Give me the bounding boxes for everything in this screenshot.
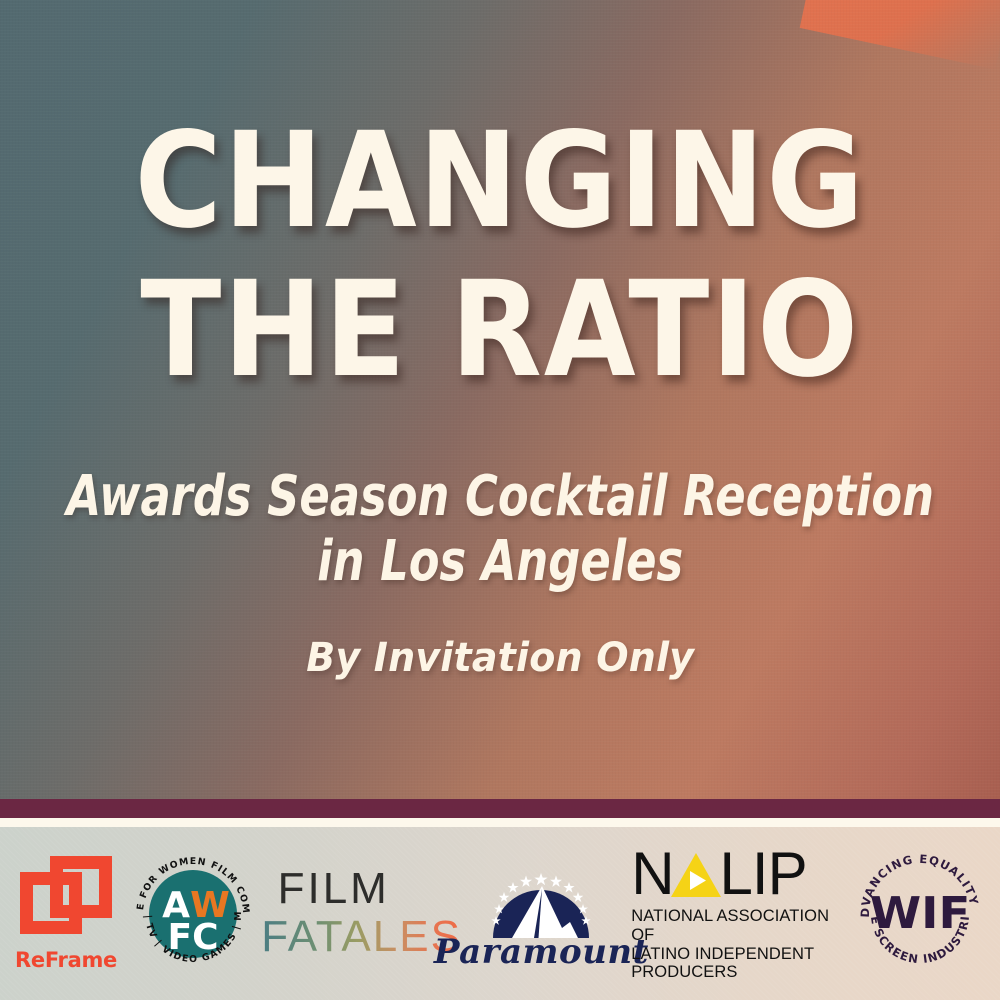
logo-nalip[interactable]: N LIP NATIONAL ASSOCIATION OF LATINO IND… — [631, 845, 841, 983]
logo-paramount[interactable]: Paramount — [466, 856, 616, 972]
event-subtitle: Awards Season Cocktail Reception in Los … — [66, 465, 934, 595]
nalip-subtitle-line-two: LATINO INDEPENDENT PRODUCERS — [631, 945, 841, 983]
paramount-wordmark: Paramount — [434, 932, 649, 972]
reframe-wordmark: ReFrame — [15, 948, 117, 972]
logo-reframe[interactable]: ReFrame — [18, 856, 114, 972]
wif-seal-icon: · ADVANCING EQUALITY IN · THE SCREEN IND… — [856, 850, 984, 978]
title-line-two: THE RATIO — [134, 267, 865, 394]
invitation-note: By Invitation Only — [306, 635, 694, 681]
subtitle-line-two: in Los Angeles — [66, 530, 934, 595]
paramount-mountain-icon — [466, 856, 616, 938]
logo-wif[interactable]: · ADVANCING EQUALITY IN · THE SCREEN IND… — [856, 850, 984, 978]
awfc-seal-icon: ALLIANCE FOR WOMEN FILM COMPOSERS FILM |… — [129, 850, 257, 978]
title-line-one: CHANGING — [134, 118, 865, 245]
nalip-letters-lip: LIP — [720, 847, 807, 901]
nalip-mark-icon: N LIP — [631, 845, 806, 901]
subtitle-line-one: Awards Season Cocktail Reception — [66, 465, 934, 530]
divider-band-maroon — [0, 799, 1000, 818]
event-poster: CHANGING THE RATIO Awards Season Cocktai… — [0, 0, 1000, 1000]
reframe-mark-icon — [20, 856, 112, 940]
nalip-subtitle: NATIONAL ASSOCIATION OF LATINO INDEPENDE… — [631, 907, 841, 983]
film-fatales-line-one: FILM — [278, 867, 390, 911]
nalip-subtitle-line-one: NATIONAL ASSOCIATION OF — [631, 907, 841, 945]
sponsor-logo-strip: ReFrame ALLIANCE FOR WOMEN FILM COMPOSER… — [0, 827, 1000, 1000]
nalip-letter-n: N — [631, 847, 673, 901]
nalip-triangle-icon — [670, 851, 722, 899]
logo-awfc[interactable]: ALLIANCE FOR WOMEN FILM COMPOSERS FILM |… — [129, 850, 257, 978]
page-title: CHANGING THE RATIO — [134, 118, 865, 393]
svg-text:WIF: WIF — [870, 887, 971, 938]
divider-band-cream — [0, 818, 1000, 827]
svg-text:FC: FC — [167, 917, 218, 958]
logo-film-fatales[interactable]: FILM FATALES — [272, 867, 452, 960]
film-fatales-line-two: FATALES — [261, 914, 462, 960]
hero-gradient-panel: CHANGING THE RATIO Awards Season Cocktai… — [0, 0, 1000, 799]
